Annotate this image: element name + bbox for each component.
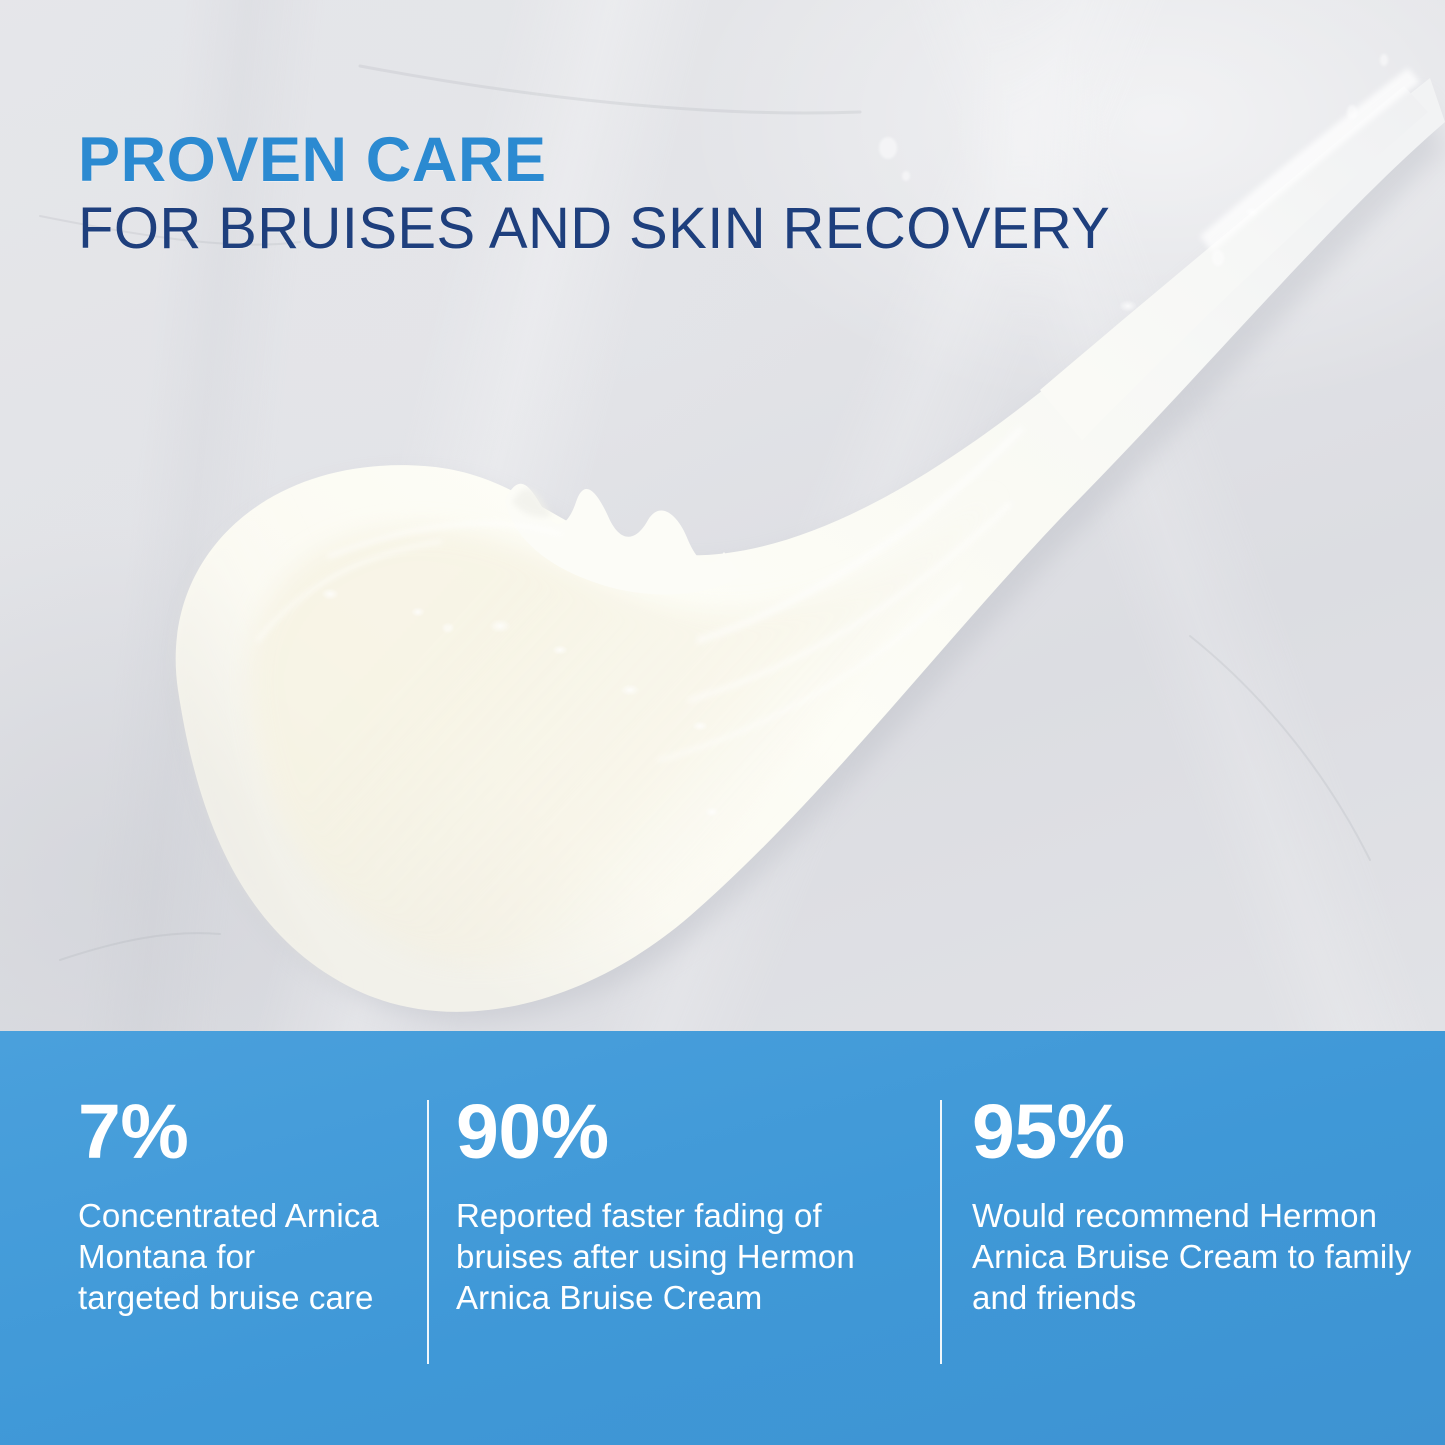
headline-block: PROVEN CARE FOR BRUISES AND SKIN RECOVER…: [78, 128, 1198, 260]
product-infographic: PROVEN CARE FOR BRUISES AND SKIN RECOVER…: [0, 0, 1445, 1445]
stat-value: 95%: [972, 1099, 1415, 1165]
stat-column-1: 7% Concentrated Arnica Montana for targe…: [0, 1099, 427, 1318]
stat-description: Reported faster fading of bruises after …: [456, 1195, 892, 1318]
stats-panel: 7% Concentrated Arnica Montana for targe…: [0, 1031, 1445, 1445]
headline-secondary: FOR BRUISES AND SKIN RECOVERY: [78, 198, 1148, 261]
stat-column-3: 95% Would recommend Hermon Arnica Bruise…: [940, 1099, 1445, 1318]
headline-primary: PROVEN CARE: [78, 128, 1198, 194]
stat-divider-2: [940, 1100, 942, 1364]
stat-column-2: 90% Reported faster fading of bruises af…: [427, 1099, 940, 1318]
stat-description: Concentrated Arnica Montana for targeted…: [78, 1195, 381, 1318]
stat-divider-1: [427, 1100, 429, 1364]
stat-value: 7%: [78, 1099, 381, 1165]
hero-photo: PROVEN CARE FOR BRUISES AND SKIN RECOVER…: [0, 0, 1445, 1031]
stat-description: Would recommend Hermon Arnica Bruise Cre…: [972, 1195, 1415, 1318]
stat-value: 90%: [456, 1099, 892, 1165]
